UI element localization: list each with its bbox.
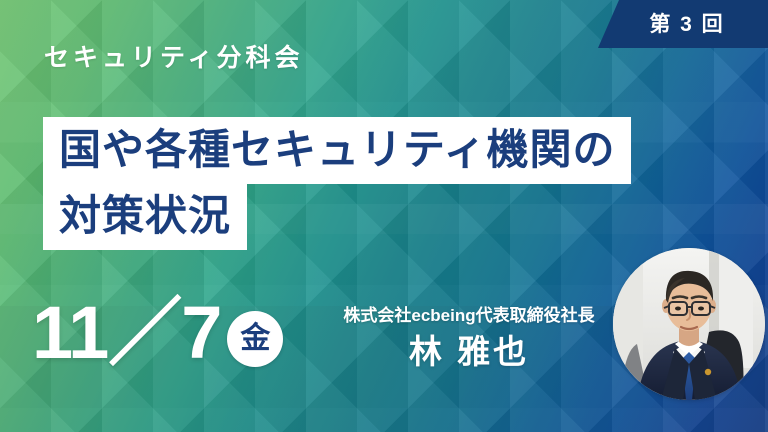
event-date: 11／7 金 bbox=[32, 296, 283, 370]
speaker-name: 林 雅也 bbox=[332, 335, 606, 368]
speaker-portrait-photo bbox=[613, 248, 765, 400]
episode-badge-label: 第 3 回 bbox=[641, 14, 724, 35]
day-of-week-circle: 金 bbox=[227, 311, 283, 367]
title-line-2: 対策状況 bbox=[43, 183, 247, 250]
speaker-block: 株式会社ecbeing代表取締役社長 林 雅也 bbox=[332, 307, 606, 368]
seminar-banner: 第 3 回 セキュリティ分科会 国や各種セキュリティ機関の 対策状況 11／7 … bbox=[0, 0, 768, 432]
series-subtitle: セキュリティ分科会 bbox=[44, 46, 304, 71]
title-block: 国や各種セキュリティ機関の 対策状況 bbox=[43, 117, 631, 250]
speaker-affiliation-title: 株式会社ecbeing代表取締役社長 bbox=[332, 307, 606, 326]
episode-badge: 第 3 回 bbox=[598, 0, 768, 48]
title-line-1: 国や各種セキュリティ機関の bbox=[43, 117, 631, 184]
event-date-value: 11／7 bbox=[32, 296, 221, 370]
day-of-week-label: 金 bbox=[240, 324, 270, 354]
